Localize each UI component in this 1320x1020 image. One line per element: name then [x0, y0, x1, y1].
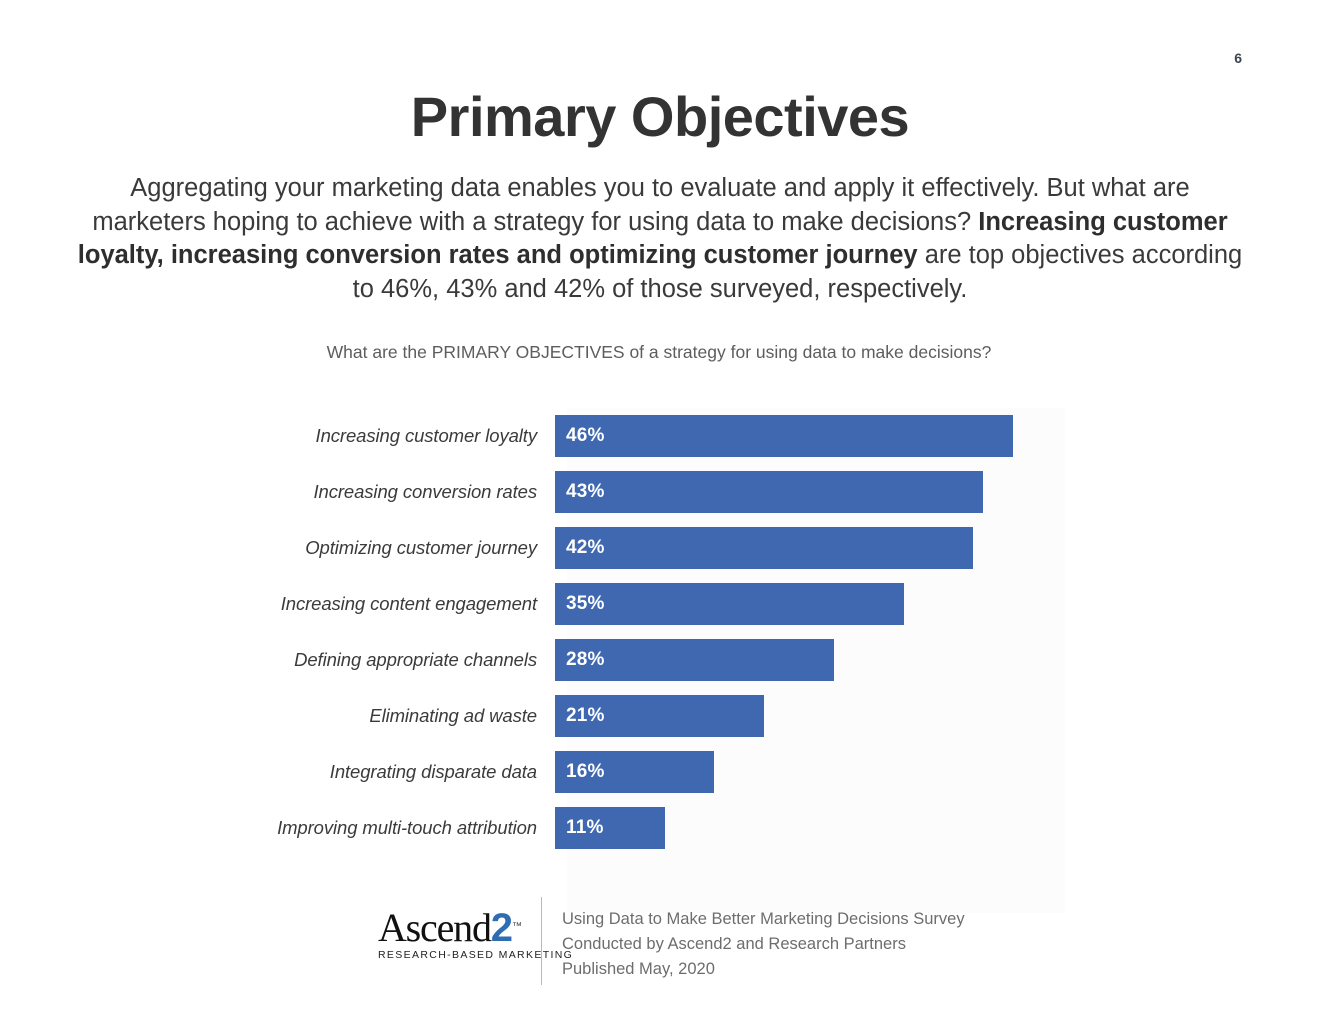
bar-track: 42%: [555, 527, 1065, 569]
bar-value-label: 43%: [555, 481, 605, 503]
bar-track: 43%: [555, 471, 1065, 513]
bar-category-label: Improving multi-touch attribution: [265, 817, 555, 839]
bar-row: Increasing content engagement 35%: [265, 576, 1065, 632]
bar-category-label: Increasing customer loyalty: [265, 425, 555, 447]
footer-line-1: Using Data to Make Better Marketing Deci…: [562, 907, 965, 932]
bar-chart-plot: Increasing customer loyalty 46% Increasi…: [265, 408, 1065, 918]
bar-track: 28%: [555, 639, 1065, 681]
bar-fill: 11%: [555, 807, 665, 849]
bar-fill: 16%: [555, 751, 714, 793]
bar-category-label: Increasing content engagement: [265, 593, 555, 615]
bar-row: Optimizing customer journey 42%: [265, 520, 1065, 576]
bar-value-label: 35%: [555, 593, 605, 615]
footer-divider: [541, 897, 542, 985]
bar-track: 16%: [555, 751, 1065, 793]
footer-line-2: Conducted by Ascend2 and Research Partne…: [562, 932, 965, 957]
bar-value-label: 11%: [555, 817, 604, 839]
bar-fill: 21%: [555, 695, 764, 737]
bar-row: Improving multi-touch attribution 11%: [265, 800, 1065, 856]
bar-fill: 42%: [555, 527, 973, 569]
bar-row: Defining appropriate channels 28%: [265, 632, 1065, 688]
bar-category-label: Integrating disparate data: [265, 761, 555, 783]
ascend2-logo: Ascend2™ RESEARCH-BASED MARKETING: [378, 907, 526, 961]
bar-fill: 35%: [555, 583, 904, 625]
bar-row: Eliminating ad waste 21%: [265, 688, 1065, 744]
bar-fill: 46%: [555, 415, 1013, 457]
bar-track: 35%: [555, 583, 1065, 625]
chart-container: What are the PRIMARY OBJECTIVES of a str…: [0, 340, 1320, 364]
logo-tagline: RESEARCH-BASED MARKETING: [378, 949, 526, 961]
logo-trademark-icon: ™: [512, 921, 522, 932]
bar-category-label: Increasing conversion rates: [265, 481, 555, 503]
bar-category-label: Eliminating ad waste: [265, 705, 555, 727]
bar-value-label: 21%: [555, 705, 605, 727]
bar-category-label: Optimizing customer journey: [265, 537, 555, 559]
logo-wordmark: Ascend2™: [378, 907, 526, 948]
bar-fill: 43%: [555, 471, 983, 513]
footer: Ascend2™ RESEARCH-BASED MARKETING Using …: [378, 897, 978, 987]
page-number: 6: [1234, 50, 1242, 66]
bar-row: Integrating disparate data 16%: [265, 744, 1065, 800]
logo-number-text: 2: [491, 906, 512, 950]
chart-question: What are the PRIMARY OBJECTIVES of a str…: [0, 340, 1320, 364]
bar-track: 11%: [555, 807, 1065, 849]
footer-source-text: Using Data to Make Better Marketing Deci…: [562, 907, 965, 982]
bar-category-label: Defining appropriate channels: [265, 649, 555, 671]
page-title: Primary Objectives: [0, 86, 1320, 148]
bar-row: Increasing customer loyalty 46%: [265, 408, 1065, 464]
bar-value-label: 28%: [555, 649, 605, 671]
footer-line-3: Published May, 2020: [562, 957, 965, 982]
bar-value-label: 46%: [555, 425, 605, 447]
bar-track: 46%: [555, 415, 1065, 457]
bar-row: Increasing conversion rates 43%: [265, 464, 1065, 520]
intro-paragraph: Aggregating your marketing data enables …: [75, 172, 1245, 306]
bar-value-label: 42%: [555, 537, 605, 559]
logo-name-text: Ascend: [378, 905, 491, 950]
bar-track: 21%: [555, 695, 1065, 737]
bar-value-label: 16%: [555, 761, 605, 783]
bar-fill: 28%: [555, 639, 834, 681]
